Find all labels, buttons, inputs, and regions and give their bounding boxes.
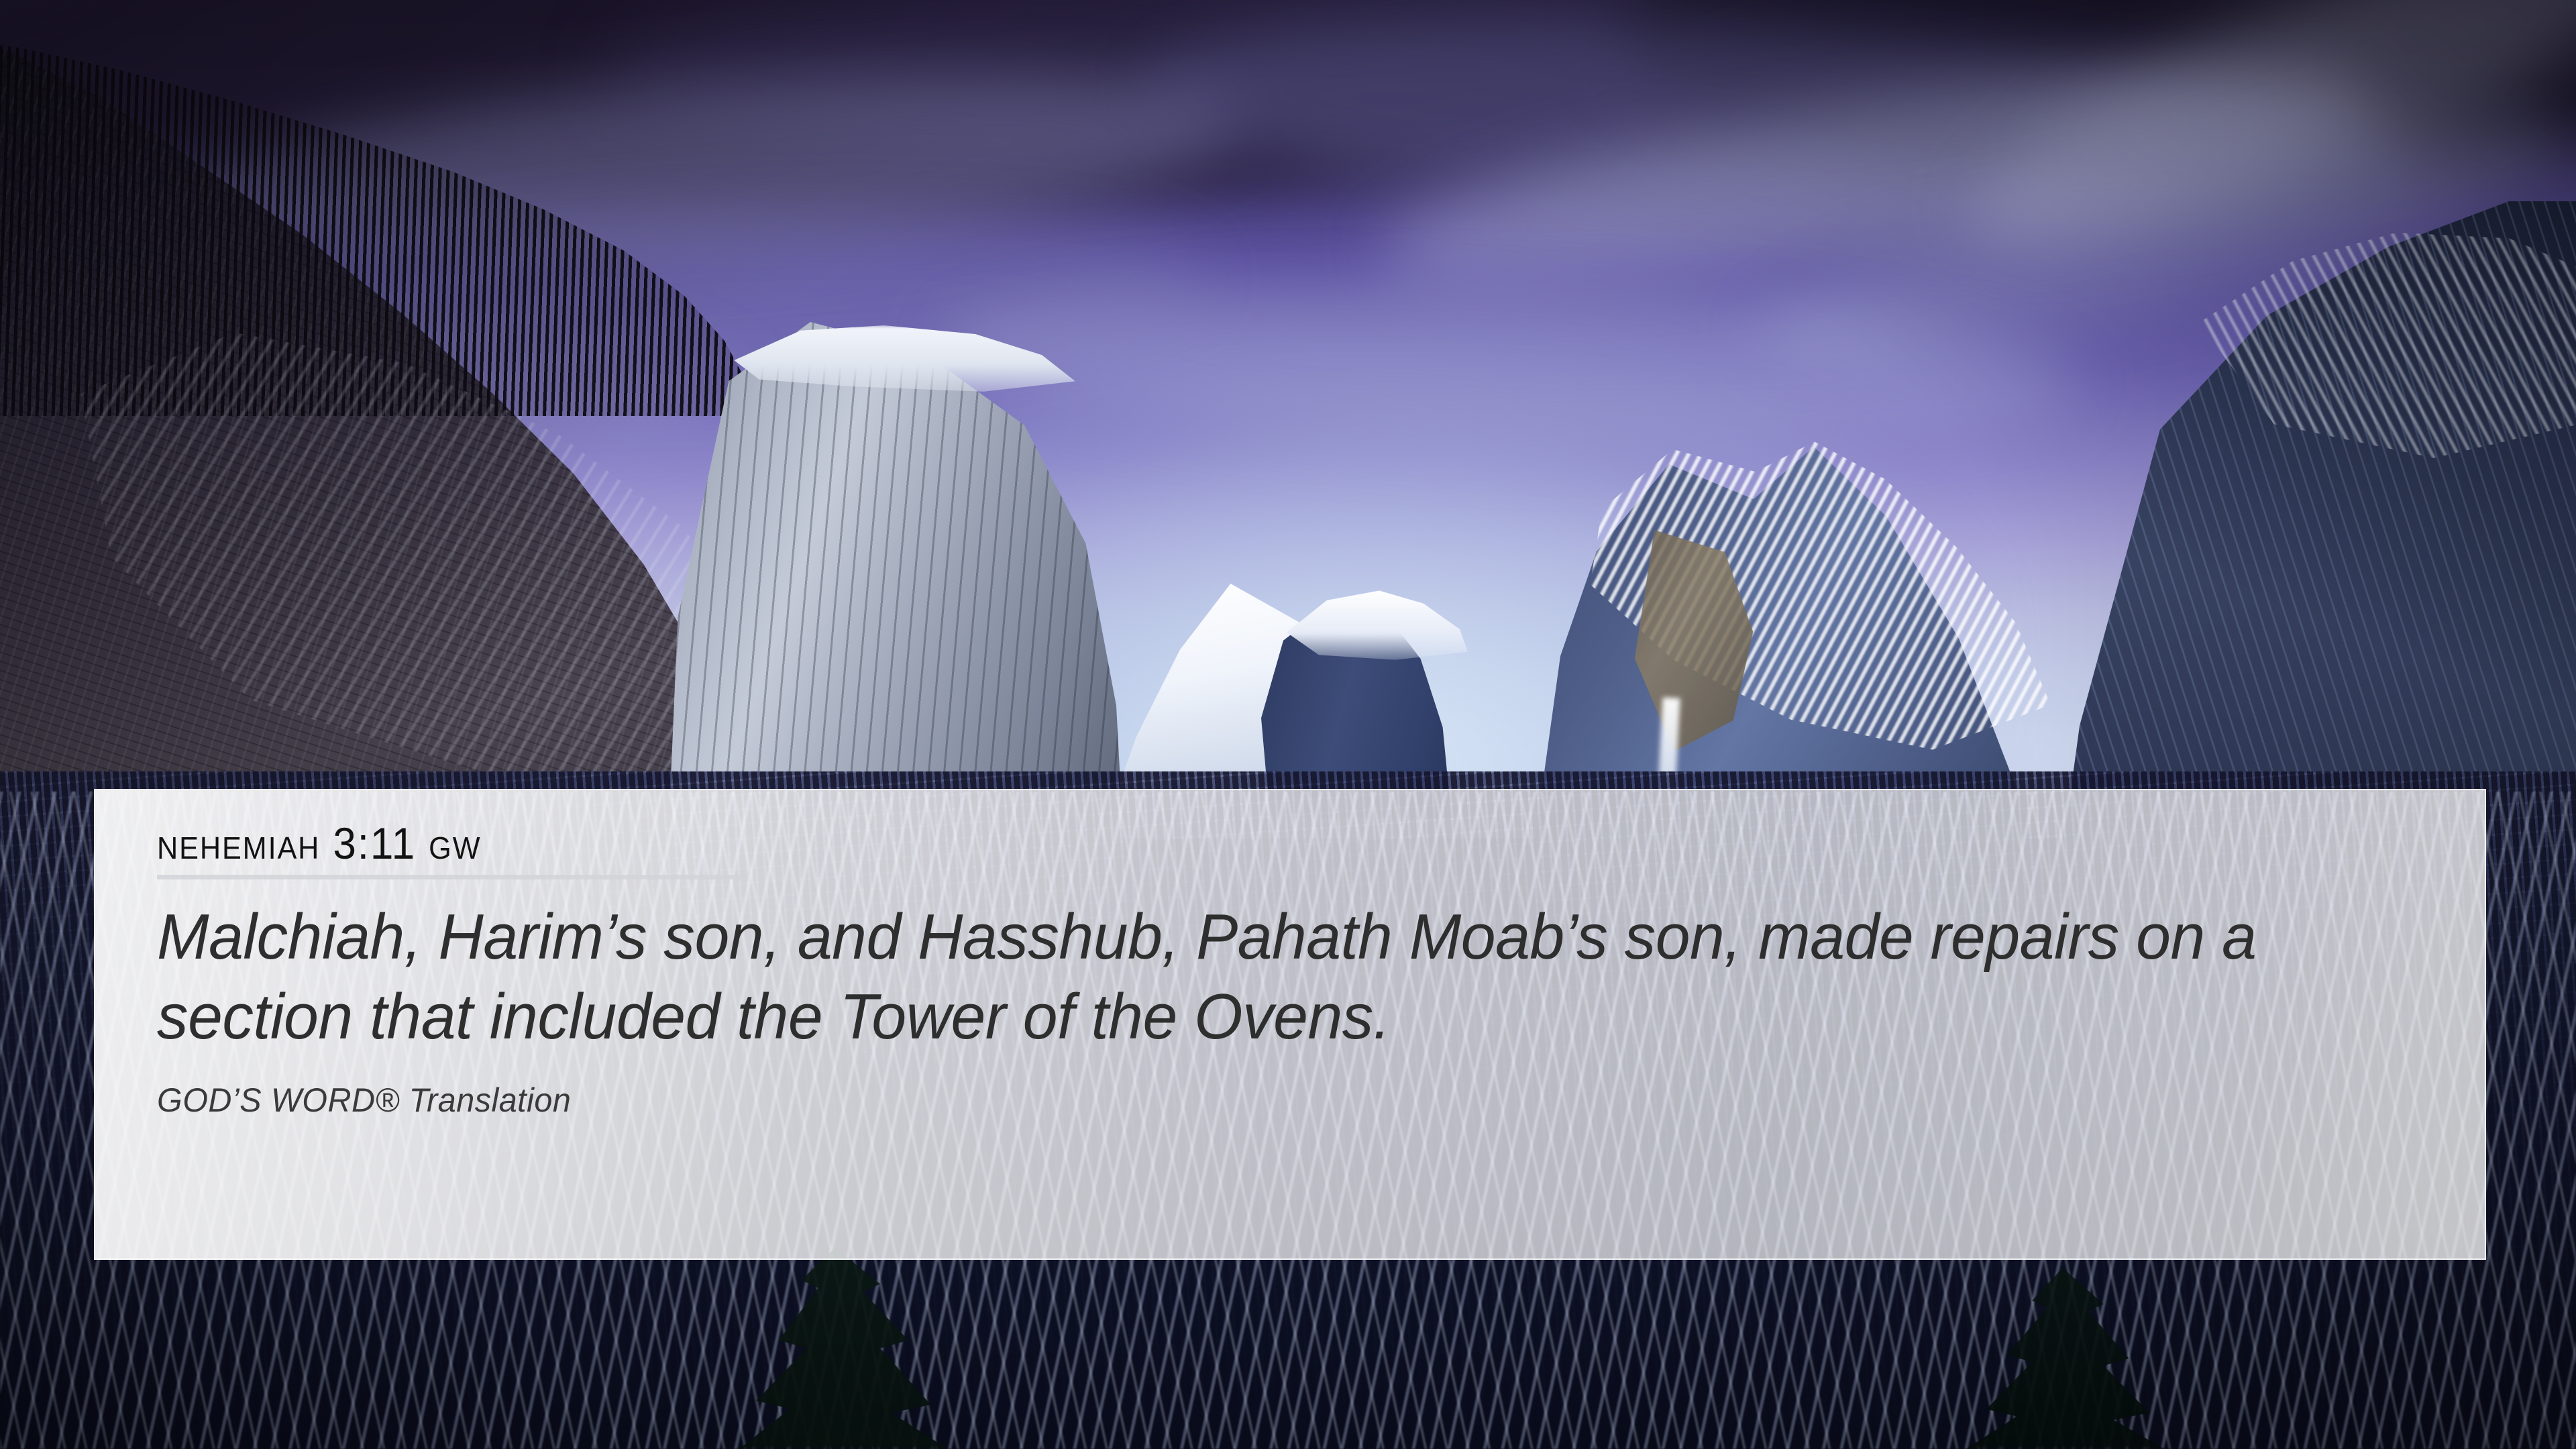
- reference-divider: [157, 875, 747, 879]
- translation-attribution: GOD’S WORD® Translation: [157, 1081, 2367, 1120]
- verse-card: Nehemiah 3:11 GW Malchiah, Harim’s son, …: [94, 789, 2486, 1260]
- verse-body-text: Malchiah, Harim’s son, and Hasshub, Paha…: [157, 897, 2357, 1057]
- verse-reference: Nehemiah 3:11 GW: [157, 821, 481, 865]
- verse-wallpaper: Nehemiah 3:11 GW Malchiah, Harim’s son, …: [0, 0, 2576, 1449]
